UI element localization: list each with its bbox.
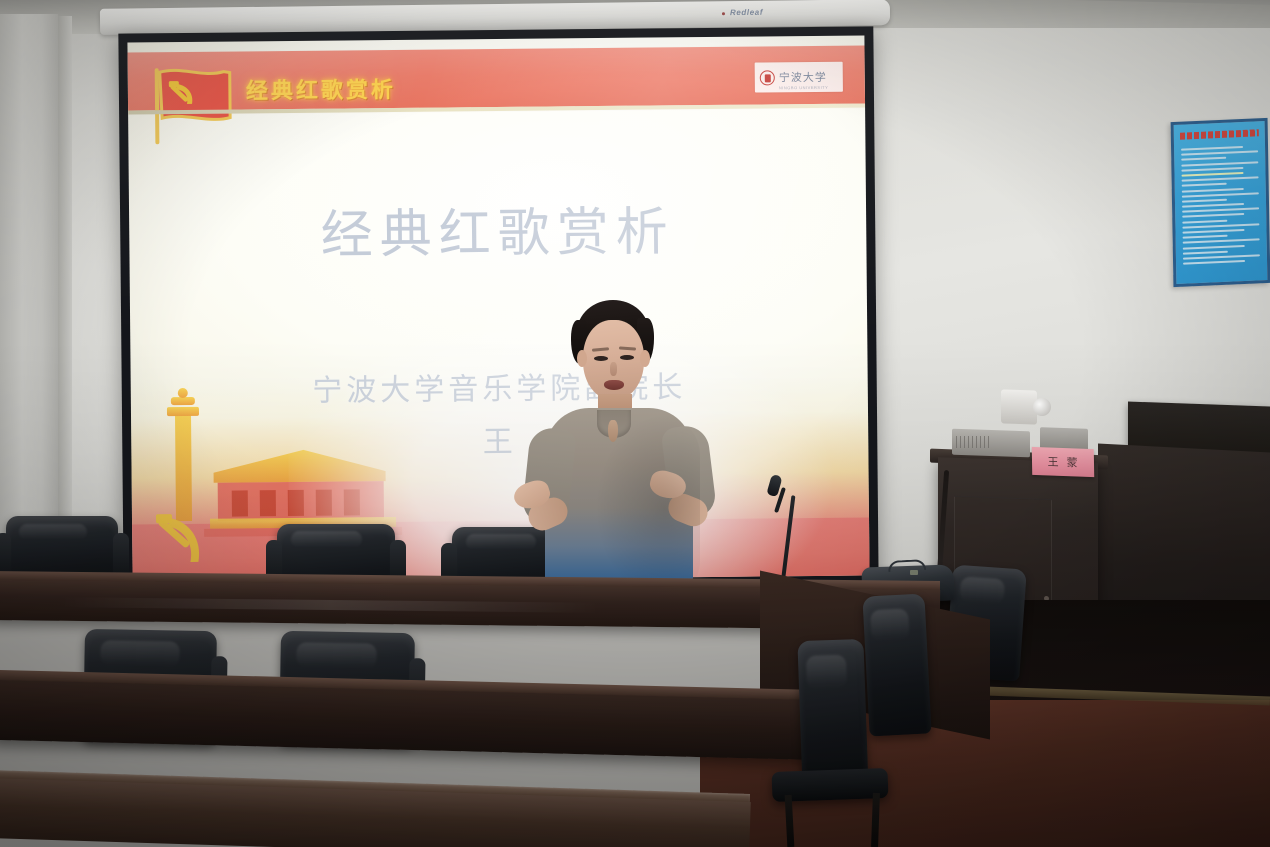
desktop-projector[interactable] [1001, 389, 1037, 424]
name-card-char-1: 王 [1047, 453, 1059, 469]
chair-highlight [871, 608, 910, 641]
left-pillar [0, 14, 58, 574]
party-flag-icon [150, 63, 247, 146]
chair-front-right-2[interactable] [862, 593, 931, 736]
lecture-hall-scene: Redleaf [0, 0, 1270, 847]
speaker-ear-right [640, 350, 650, 367]
speaker-eye-left [594, 356, 608, 361]
speaker-eye-right [620, 355, 634, 360]
university-logo-text: 宁波大学 [779, 71, 827, 82]
speaker-person [500, 300, 740, 600]
university-logo-subtext: NINGBO UNIVERSITY [779, 85, 828, 90]
projector-lens-icon [1033, 398, 1051, 416]
poster-title-bar [1180, 129, 1259, 139]
speaker-nose [610, 362, 617, 376]
name-card-char-2: 蒙 [1066, 454, 1078, 470]
poster-text-lines [1181, 145, 1260, 268]
chair-highlight [100, 640, 180, 666]
brand-dot-icon [722, 12, 725, 15]
slide-main-title: 经典红歌赏析 [129, 187, 867, 269]
backpack-buckle-icon [910, 570, 918, 575]
slide-header-banner: 经典红歌赏析 宁波大学 NINGBO UNIVERSITY [128, 45, 866, 110]
chair-highlight [19, 524, 86, 541]
projector-screen-frame: 经典红歌赏析 宁波大学 NINGBO UNIVERSITY 经典红歌赏析 宁波大… [118, 26, 878, 591]
university-logo: 宁波大学 NINGBO UNIVERSITY [755, 62, 843, 93]
chair-highlight [296, 642, 377, 668]
hammer-sickle-icon [140, 499, 251, 580]
chair-highlight [806, 655, 847, 689]
av-vent-grille-icon [956, 436, 992, 448]
projector-slide: 经典红歌赏析 宁波大学 NINGBO UNIVERSITY 经典红歌赏析 宁波大… [127, 35, 869, 582]
slide-banner-title: 经典红歌赏析 [246, 72, 396, 105]
speaker-collar-opening [608, 420, 618, 442]
speaker-mouth [604, 380, 624, 390]
left-pillar-edge [58, 16, 72, 572]
wall-notice-poster [1171, 118, 1270, 287]
chair-highlight [291, 531, 362, 547]
speaker-name-card: 王 蒙 [1032, 447, 1094, 477]
backpack-strap [888, 559, 927, 572]
screen-case-brand-label: Redleaf [730, 8, 763, 17]
chair-highlight [959, 576, 1005, 604]
speaker-ear-left [577, 350, 587, 367]
university-emblem-icon [760, 70, 775, 85]
